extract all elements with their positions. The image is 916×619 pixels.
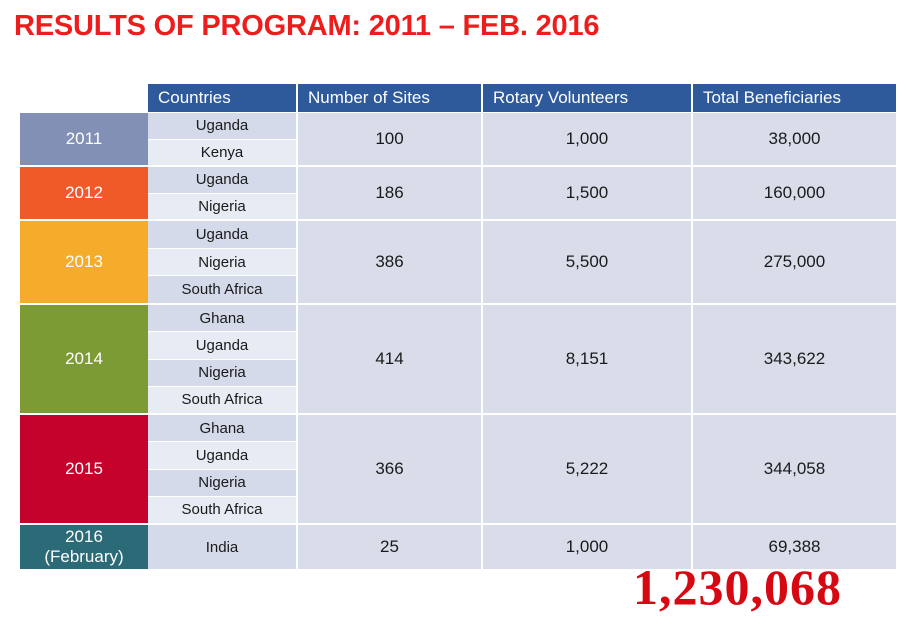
- table-body: 2011UgandaKenya1001,00038,0002012UgandaN…: [20, 113, 896, 569]
- country-cell: India: [148, 525, 296, 569]
- sites-cell: 100: [298, 113, 483, 165]
- year-label: 2016(February): [44, 527, 123, 566]
- sites-cell: 186: [298, 167, 483, 219]
- country-cell: Uganda: [148, 221, 296, 249]
- column-header-total-beneficiaries: Total Beneficiaries: [693, 84, 896, 112]
- year-cell: 2011: [20, 113, 148, 165]
- year-label: 2013: [65, 252, 103, 272]
- country-cell: Nigeria: [148, 194, 296, 220]
- table-row: 2013UgandaNigeriaSouth Africa3865,500275…: [20, 221, 896, 303]
- volunteers-cell: 5,500: [483, 221, 693, 303]
- row-data-group: GhanaUgandaNigeriaSouth Africa4148,15134…: [148, 305, 896, 413]
- beneficiaries-cell: 275,000: [693, 221, 896, 303]
- row-data-group: GhanaUgandaNigeriaSouth Africa3665,22234…: [148, 415, 896, 523]
- year-label: 2011: [66, 129, 103, 149]
- slide-root: RESULTS OF PROGRAM: 2011 – FEB. 2016 Cou…: [0, 0, 916, 619]
- row-data-group: UgandaNigeriaSouth Africa3865,500275,000: [148, 221, 896, 303]
- beneficiaries-cell: 160,000: [693, 167, 896, 219]
- country-cell: Ghana: [148, 305, 296, 332]
- table-row: 2015GhanaUgandaNigeriaSouth Africa3665,2…: [20, 415, 896, 523]
- volunteers-cell: 8,151: [483, 305, 693, 413]
- year-cell: 2013: [20, 221, 148, 303]
- year-label: 2014: [65, 349, 103, 369]
- table-row: 2012UgandaNigeria1861,500160,000: [20, 167, 896, 219]
- country-cell: Nigeria: [148, 360, 296, 387]
- year-label: 2015: [65, 459, 103, 479]
- year-sublabel: (February): [44, 547, 123, 567]
- beneficiaries-cell: 38,000: [693, 113, 896, 165]
- volunteers-cell: 1,000: [483, 113, 693, 165]
- beneficiaries-cell: 344,058: [693, 415, 896, 523]
- year-cell: 2014: [20, 305, 148, 413]
- countries-cell-group: UgandaNigeriaSouth Africa: [148, 221, 298, 303]
- year-cell: 2012: [20, 167, 148, 219]
- country-cell: Ghana: [148, 415, 296, 442]
- country-cell: Nigeria: [148, 470, 296, 497]
- page-title: RESULTS OF PROGRAM: 2011 – FEB. 2016: [14, 10, 599, 43]
- country-cell: South Africa: [148, 387, 296, 413]
- countries-cell-group: UgandaKenya: [148, 113, 298, 165]
- sites-cell: 414: [298, 305, 483, 413]
- countries-cell-group: GhanaUgandaNigeriaSouth Africa: [148, 415, 298, 523]
- country-cell: Uganda: [148, 113, 296, 140]
- column-header-number-of-sites: Number of Sites: [298, 84, 483, 112]
- column-header-countries: Countries: [148, 84, 298, 112]
- volunteers-cell: 5,222: [483, 415, 693, 523]
- country-cell: Uganda: [148, 167, 296, 194]
- row-data-group: UgandaKenya1001,00038,000: [148, 113, 896, 165]
- country-cell: Kenya: [148, 140, 296, 166]
- year-cell: 2016(February): [20, 525, 148, 569]
- sites-cell: 386: [298, 221, 483, 303]
- country-cell: South Africa: [148, 497, 296, 523]
- country-cell: South Africa: [148, 276, 296, 303]
- volunteers-cell: 1,500: [483, 167, 693, 219]
- column-header-rotary-volunteers: Rotary Volunteers: [483, 84, 693, 112]
- countries-cell-group: GhanaUgandaNigeriaSouth Africa: [148, 305, 298, 413]
- year-cell: 2015: [20, 415, 148, 523]
- table-row: 2011UgandaKenya1001,00038,000: [20, 113, 896, 165]
- beneficiaries-cell: 343,622: [693, 305, 896, 413]
- year-label: 2012: [65, 183, 103, 203]
- grand-total: 1,230,068: [633, 558, 842, 616]
- table-row: 2014GhanaUgandaNigeriaSouth Africa4148,1…: [20, 305, 896, 413]
- row-data-group: UgandaNigeria1861,500160,000: [148, 167, 896, 219]
- country-cell: Uganda: [148, 442, 296, 469]
- countries-cell-group: India: [148, 525, 298, 569]
- country-cell: Nigeria: [148, 249, 296, 277]
- sites-cell: 366: [298, 415, 483, 523]
- results-table: Countries Number of Sites Rotary Volunte…: [20, 84, 896, 571]
- sites-cell: 25: [298, 525, 483, 569]
- country-cell: Uganda: [148, 332, 296, 359]
- table-header-row: Countries Number of Sites Rotary Volunte…: [148, 84, 896, 112]
- countries-cell-group: UgandaNigeria: [148, 167, 298, 219]
